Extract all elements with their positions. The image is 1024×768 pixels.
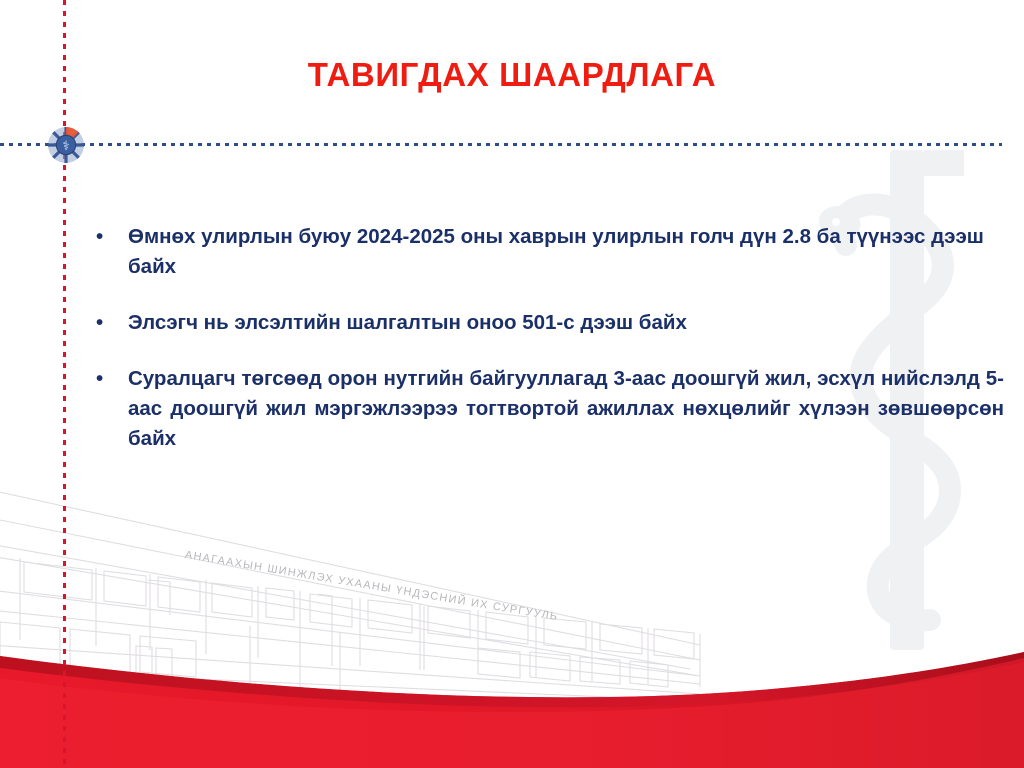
list-item: • Элсэгч нь элсэлтийн шалгалтын оноо 501…	[92, 308, 1004, 338]
building-caption: АНАГААХЫН ШИНЖЛЭХ УХААНЫ ҮНДЭСНИЙ ИХ СУР…	[184, 549, 600, 630]
red-swoosh-ribbon	[0, 638, 1024, 768]
list-item-text: Элсэгч нь элсэлтийн шалгалтын оноо 501-с…	[128, 308, 1004, 338]
bullet-marker: •	[96, 308, 110, 338]
presentation-slide: АНАГААХЫН ШИНЖЛЭХ УХААНЫ ҮНДЭСНИЙ ИХ СУР…	[0, 0, 1024, 768]
horizontal-dotted-divider	[0, 143, 1002, 146]
list-item: • Суралцагч төгсөөд орон нутгийн байгуул…	[92, 364, 1004, 454]
list-item-text: Өмнөх улирлын буюу 2024-2025 оны хаврын …	[128, 222, 1004, 282]
list-item-text: Суралцагч төгсөөд орон нутгийн байгуулла…	[128, 364, 1004, 454]
vertical-dotted-divider	[63, 0, 66, 768]
bullet-list: • Өмнөх улирлын буюу 2024-2025 оны хавры…	[92, 222, 1004, 454]
list-item: • Өмнөх улирлын буюу 2024-2025 оны хавры…	[92, 222, 1004, 282]
bullet-marker: •	[96, 364, 110, 394]
mnums-emblem-icon: ⚕	[46, 124, 86, 166]
page-title: ТАВИГДАХ ШААРДЛАГА	[0, 57, 1024, 93]
bullet-marker: •	[96, 222, 110, 252]
svg-text:⚕: ⚕	[62, 138, 69, 153]
